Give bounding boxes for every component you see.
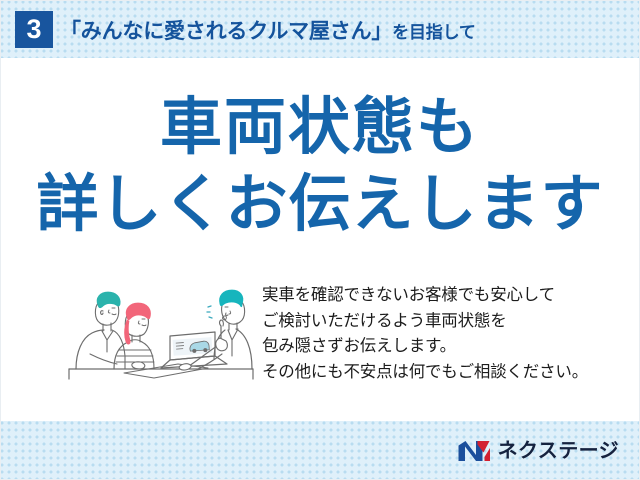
- header-title: 「みんなに愛されるクルマ屋さん」を目指して: [60, 13, 476, 47]
- slide-frame-border: [0, 0, 640, 480]
- speech-sparkle-icon: [207, 306, 212, 318]
- consultation-illustration: [62, 276, 260, 386]
- headline-line-2: 詳しくお伝えします: [0, 173, 640, 236]
- header-title-suffix: を目指して: [392, 18, 476, 43]
- female-customer-hair: [126, 303, 150, 320]
- headline-line-1: 車両状態も: [0, 96, 640, 159]
- brand-logo: ネクステージ: [457, 437, 619, 465]
- nextage-n-mark-icon: [457, 439, 491, 463]
- body-copy-line-2: ご検討いただけるよう車両状態を: [262, 309, 612, 335]
- body-copy-line-4: その他にも不安点は何でもご相談ください。: [262, 360, 612, 386]
- header-step-badge: 3: [15, 11, 53, 48]
- promo-slide: 3 「みんなに愛されるクルマ屋さん」を目指して 車両状態も 詳しくお伝えします …: [0, 0, 640, 480]
- body-copy-line-1: 実車を確認できないお客様でも安心して: [262, 283, 612, 309]
- header-title-quoted: 「みんなに愛されるクルマ屋さん」: [60, 15, 392, 45]
- body-copy-line-3: 包み隠さずお伝えします。: [262, 334, 612, 360]
- nextage-wordmark: ネクステージ: [498, 441, 619, 461]
- headline: 車両状態も 詳しくお伝えします: [0, 96, 640, 236]
- male-customer-hair: [97, 292, 120, 308]
- body-copy: 実車を確認できないお客様でも安心して ご検討いただけるよう車両状態を 包み隠さず…: [262, 283, 612, 385]
- sales-staff-hair: [220, 290, 243, 307]
